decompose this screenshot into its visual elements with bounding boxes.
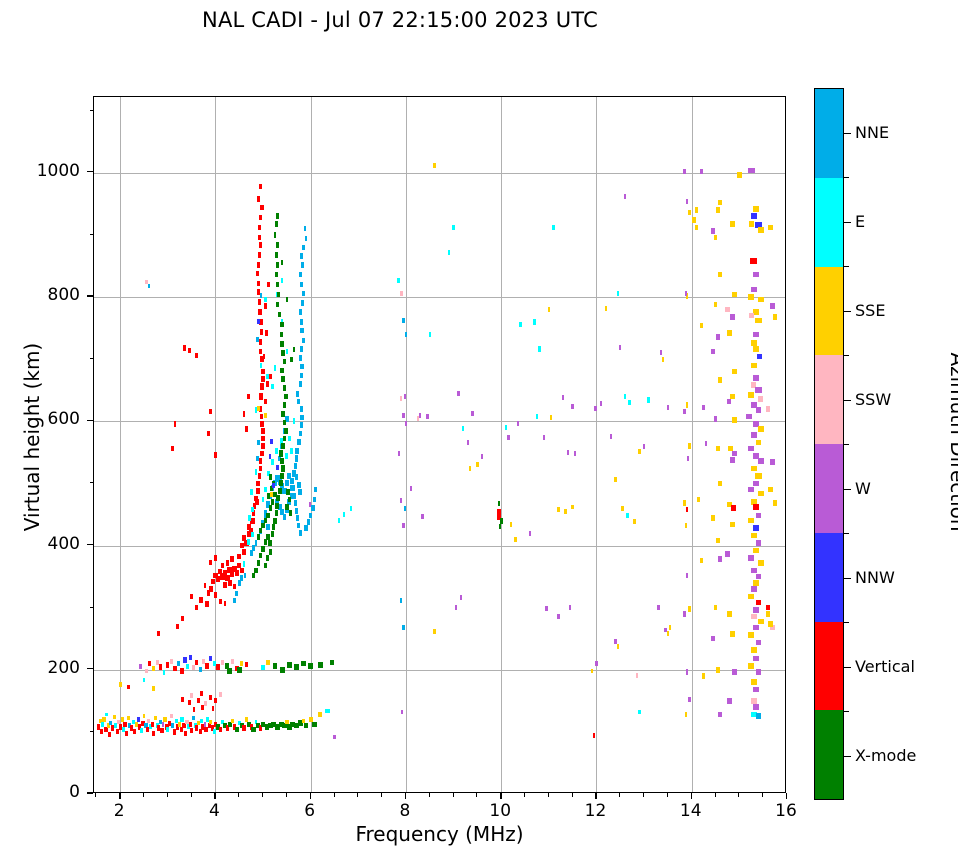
echo-point xyxy=(272,524,276,530)
echo-point xyxy=(256,337,258,342)
echo-point xyxy=(514,537,516,542)
echo-point xyxy=(258,309,262,315)
echo-point xyxy=(277,292,280,298)
echo-point xyxy=(302,338,305,344)
echo-point xyxy=(686,199,689,205)
echo-point xyxy=(702,673,705,679)
echo-point xyxy=(626,513,628,518)
echo-point xyxy=(171,446,173,451)
echo-point xyxy=(751,698,757,704)
echo-point xyxy=(716,538,720,544)
echo-point xyxy=(170,714,173,718)
echo-point xyxy=(195,605,198,611)
echo-point xyxy=(273,518,277,524)
echo-point xyxy=(189,655,192,661)
echo-point xyxy=(258,299,261,305)
echo-point xyxy=(205,601,208,607)
echo-point xyxy=(281,411,284,417)
echo-point xyxy=(276,282,279,288)
echo-point xyxy=(190,728,193,733)
x-tick-minor xyxy=(453,793,454,797)
colorbar-tick xyxy=(844,667,851,668)
x-tick-minor xyxy=(738,793,739,797)
echo-point xyxy=(766,406,771,412)
echo-point xyxy=(192,716,195,720)
echo-point xyxy=(755,387,761,393)
echo-point xyxy=(753,206,760,212)
echo-point xyxy=(697,497,700,503)
echo-point xyxy=(197,698,200,703)
x-tick-minor xyxy=(262,793,263,797)
echo-point xyxy=(297,439,301,445)
echo-point xyxy=(773,500,778,506)
echo-point xyxy=(242,725,245,731)
echo-point xyxy=(402,413,405,418)
y-tick xyxy=(87,295,93,296)
echo-point xyxy=(300,415,303,421)
echo-point xyxy=(266,555,269,561)
echo-point xyxy=(683,409,686,415)
echo-point xyxy=(732,451,737,457)
x-tick-minor xyxy=(572,793,573,797)
echo-point xyxy=(725,551,729,557)
echo-point xyxy=(195,353,198,359)
echo-point xyxy=(288,436,291,442)
echo-point xyxy=(255,469,258,475)
echo-point xyxy=(213,729,216,734)
echo-point xyxy=(574,451,576,456)
echo-point xyxy=(209,695,212,700)
echo-point xyxy=(251,507,254,513)
echo-point xyxy=(591,669,593,674)
echo-point xyxy=(276,302,279,308)
echo-point xyxy=(295,508,298,514)
echo-point xyxy=(755,473,761,479)
colorbar-boundary-tick xyxy=(844,355,849,356)
echo-point xyxy=(148,284,150,288)
echo-point xyxy=(276,495,280,501)
gridline-vertical xyxy=(692,97,693,792)
x-tick-minor xyxy=(334,793,335,797)
echo-point xyxy=(256,481,260,487)
echo-point xyxy=(753,607,759,613)
y-tick-label: 0 xyxy=(0,782,80,802)
x-tick-minor xyxy=(238,793,239,797)
echo-point xyxy=(758,396,763,402)
x-tick-minor xyxy=(619,793,620,797)
echo-point xyxy=(281,465,285,471)
echo-point xyxy=(160,728,163,733)
echo-point xyxy=(695,207,698,213)
echo-point xyxy=(216,664,220,670)
echo-point xyxy=(619,345,621,350)
x-tick-minor xyxy=(286,793,287,797)
colorbar-label-sse: SSE xyxy=(855,301,885,320)
echo-point xyxy=(751,432,757,438)
echo-point xyxy=(686,573,689,579)
echo-point xyxy=(731,505,736,511)
echo-point xyxy=(163,717,166,721)
echo-point xyxy=(280,322,283,328)
echo-point xyxy=(204,701,207,706)
echo-point xyxy=(688,210,691,216)
echo-point xyxy=(261,369,264,375)
echo-point xyxy=(330,660,334,666)
echo-point xyxy=(683,611,686,617)
echo-point xyxy=(402,523,404,528)
echo-point xyxy=(753,332,759,338)
echo-point xyxy=(260,363,262,368)
echo-point xyxy=(756,574,762,580)
echo-point xyxy=(300,253,303,259)
echo-point xyxy=(751,586,757,592)
echo-point xyxy=(505,425,507,430)
echo-point xyxy=(507,435,509,440)
colorbar-segment-x-mode[interactable] xyxy=(815,710,843,799)
echo-point xyxy=(705,441,708,447)
echo-point xyxy=(452,225,454,230)
echo-point xyxy=(751,533,757,539)
echo-point xyxy=(281,443,284,449)
echo-point xyxy=(284,428,287,434)
echo-point xyxy=(214,698,217,703)
echo-point xyxy=(143,714,146,718)
echo-point xyxy=(221,563,224,569)
echo-point xyxy=(166,662,169,668)
echo-point xyxy=(753,481,759,487)
y-tick-label: 200 xyxy=(0,658,80,678)
y-tick-minor xyxy=(90,110,94,111)
echo-point xyxy=(259,215,262,221)
echo-point xyxy=(300,422,303,428)
echo-point xyxy=(257,560,260,566)
echo-point xyxy=(260,451,263,457)
echo-point xyxy=(510,522,512,527)
azimuth-colorbar[interactable] xyxy=(814,88,844,800)
echo-point xyxy=(716,334,720,340)
echo-point xyxy=(290,448,293,454)
echo-point xyxy=(295,474,299,480)
echo-point xyxy=(292,493,296,499)
echo-point xyxy=(271,531,275,537)
echo-point xyxy=(214,555,217,561)
colorbar-segment-vertical[interactable] xyxy=(815,622,843,711)
echo-point xyxy=(751,287,757,293)
echo-point xyxy=(200,719,203,723)
echo-point xyxy=(758,426,764,432)
echo-point xyxy=(714,605,718,611)
colorbar-segment-sse[interactable] xyxy=(815,267,843,356)
echo-point xyxy=(221,660,224,665)
echo-point xyxy=(550,415,552,420)
echo-point xyxy=(100,729,103,734)
echo-point xyxy=(647,397,650,403)
gridline-vertical xyxy=(311,97,312,792)
echo-point xyxy=(773,314,778,320)
echo-point xyxy=(271,459,274,465)
x-tick-label: 6 xyxy=(280,801,340,821)
echo-point xyxy=(188,700,191,705)
echo-point xyxy=(410,486,412,491)
echo-point xyxy=(268,540,272,546)
echo-point xyxy=(145,669,148,674)
echo-point xyxy=(404,506,406,511)
echo-point xyxy=(266,381,269,387)
x-tick-minor xyxy=(95,793,96,797)
echo-point xyxy=(258,235,261,241)
echo-point xyxy=(753,272,760,278)
echo-point xyxy=(275,510,279,516)
echo-point xyxy=(498,501,500,506)
echo-point xyxy=(235,727,239,733)
echo-point xyxy=(748,392,754,398)
echo-point xyxy=(457,391,459,396)
echo-point xyxy=(301,661,306,667)
echo-point xyxy=(711,228,715,234)
echo-point xyxy=(257,406,259,411)
echo-point xyxy=(429,332,431,337)
echo-point xyxy=(289,510,292,516)
echo-point xyxy=(400,396,402,401)
echo-point xyxy=(188,348,191,354)
echo-point xyxy=(758,458,764,464)
colorbar-tick xyxy=(844,400,851,401)
echo-point xyxy=(259,393,263,399)
echo-point xyxy=(517,421,519,426)
echo-point xyxy=(260,329,263,335)
echo-point xyxy=(628,400,631,406)
echo-point xyxy=(402,625,404,630)
echo-point xyxy=(481,454,483,459)
echo-point xyxy=(190,594,193,599)
echo-point xyxy=(296,391,299,397)
gridline-vertical xyxy=(596,97,597,792)
echo-point xyxy=(293,418,296,424)
echo-point xyxy=(195,660,198,666)
echo-point xyxy=(749,221,754,227)
echo-point xyxy=(298,489,302,495)
echo-point xyxy=(275,272,278,278)
echo-point xyxy=(309,513,312,519)
colorbar-segment-w[interactable] xyxy=(815,444,843,533)
echo-point xyxy=(593,733,595,738)
echo-point xyxy=(569,605,571,610)
echo-point xyxy=(256,456,259,462)
echo-point xyxy=(755,318,761,324)
echo-point xyxy=(700,169,703,175)
echo-point xyxy=(170,659,173,664)
echo-point xyxy=(224,601,227,606)
echo-point xyxy=(732,292,737,298)
echo-point xyxy=(250,489,253,495)
echo-point xyxy=(499,524,501,529)
echo-point xyxy=(718,200,722,206)
x-tick-minor xyxy=(429,793,430,797)
echo-point xyxy=(259,339,262,345)
colorbar-segment-nnw[interactable] xyxy=(815,533,843,622)
echo-point xyxy=(209,720,212,724)
echo-point xyxy=(404,394,406,399)
echo-point xyxy=(643,444,645,449)
echo-point xyxy=(748,487,754,493)
echo-point xyxy=(299,272,302,278)
echo-point xyxy=(718,377,722,383)
echo-point xyxy=(261,376,264,382)
echo-point xyxy=(421,514,423,519)
echo-point xyxy=(567,450,569,455)
echo-point xyxy=(283,402,286,408)
echo-point xyxy=(258,473,261,479)
echo-point xyxy=(433,629,435,634)
echo-point xyxy=(766,605,771,611)
y-tick-minor xyxy=(90,607,94,608)
echo-point xyxy=(125,731,128,736)
echo-point xyxy=(152,666,155,671)
echo-point xyxy=(190,693,193,698)
echo-point xyxy=(251,727,255,733)
echo-point xyxy=(756,540,762,546)
colorbar-segment-e[interactable] xyxy=(815,178,843,267)
echo-point xyxy=(304,723,309,729)
echo-point xyxy=(152,731,155,736)
echo-point xyxy=(299,431,302,437)
echo-point xyxy=(714,235,718,241)
x-tick-minor xyxy=(524,793,525,797)
echo-point xyxy=(757,354,763,360)
echo-point xyxy=(286,349,288,354)
colorbar-segment-ssw[interactable] xyxy=(815,355,843,444)
echo-point xyxy=(295,448,299,454)
echo-point xyxy=(333,735,337,739)
echo-point xyxy=(304,226,307,232)
echo-point xyxy=(264,399,267,405)
colorbar-tick xyxy=(844,578,851,579)
colorbar-label-vertical: Vertical xyxy=(855,657,915,676)
echo-point xyxy=(730,221,735,227)
colorbar-boundary-tick xyxy=(844,266,849,267)
echo-point xyxy=(469,466,471,471)
echo-point xyxy=(756,669,762,675)
echo-point xyxy=(123,722,126,728)
echo-point xyxy=(692,217,695,223)
echo-point xyxy=(343,512,345,517)
echo-point xyxy=(211,579,215,585)
echo-point xyxy=(276,213,279,219)
colorbar-tick xyxy=(844,756,851,757)
y-tick-minor xyxy=(90,234,94,235)
echo-point xyxy=(255,499,259,505)
gridline-horizontal xyxy=(94,297,785,298)
echo-point xyxy=(219,599,222,605)
echo-point xyxy=(727,330,732,336)
echo-point xyxy=(261,436,264,442)
echo-point xyxy=(279,480,283,486)
echo-point xyxy=(258,225,261,231)
echo-point xyxy=(139,664,142,669)
echo-point xyxy=(108,732,111,737)
echo-point xyxy=(552,225,554,230)
echo-point xyxy=(500,518,503,524)
ionogram-plot-area xyxy=(93,96,786,793)
echo-point xyxy=(119,682,122,686)
echo-point xyxy=(400,498,402,503)
echo-point xyxy=(264,563,267,569)
x-tick-label: 10 xyxy=(470,801,530,821)
echo-point xyxy=(176,624,179,629)
echo-point xyxy=(238,580,241,586)
echo-point xyxy=(286,297,288,302)
echo-point xyxy=(300,328,303,334)
echo-point xyxy=(688,606,691,612)
echo-point xyxy=(768,621,773,627)
echo-point xyxy=(285,480,289,486)
echo-point xyxy=(768,225,773,231)
echo-point xyxy=(405,421,408,426)
echo-point xyxy=(462,426,464,431)
echo-point xyxy=(296,515,299,521)
echo-point xyxy=(400,598,402,603)
echo-point xyxy=(751,614,757,620)
echo-point xyxy=(730,631,735,637)
colorbar-tick xyxy=(844,311,851,312)
colorbar-tick xyxy=(844,133,851,134)
echo-point xyxy=(151,722,154,728)
echo-point xyxy=(278,488,282,494)
echo-point xyxy=(297,399,300,405)
gridline-horizontal xyxy=(94,670,785,671)
echo-point xyxy=(219,692,222,697)
echo-point xyxy=(257,319,259,324)
echo-point xyxy=(101,722,104,726)
echo-point xyxy=(571,404,573,409)
echo-point xyxy=(756,713,762,719)
echo-point xyxy=(476,462,478,467)
echo-point xyxy=(295,455,299,461)
echo-point xyxy=(350,506,352,511)
echo-point xyxy=(171,723,174,728)
echo-point xyxy=(545,606,547,611)
echo-point xyxy=(259,528,262,534)
colorbar-segment-nne[interactable] xyxy=(815,89,843,178)
echo-point xyxy=(595,661,597,666)
echo-point xyxy=(233,598,236,603)
echo-point xyxy=(257,534,260,540)
echo-point xyxy=(758,297,764,303)
echo-point xyxy=(727,399,731,405)
echo-point xyxy=(281,350,284,356)
echo-point xyxy=(283,385,286,391)
echo-point xyxy=(753,656,759,662)
echo-point xyxy=(688,697,691,703)
echo-point xyxy=(283,436,286,442)
echo-point xyxy=(571,505,573,510)
x-tick-minor xyxy=(381,793,382,797)
echo-point xyxy=(711,515,715,521)
echo-point xyxy=(264,303,267,309)
echo-point xyxy=(270,439,272,444)
echo-point xyxy=(460,595,462,600)
x-tick xyxy=(786,793,787,799)
echo-point xyxy=(247,539,250,545)
echo-point xyxy=(200,691,203,696)
echo-point xyxy=(293,347,295,352)
echo-point xyxy=(283,514,287,520)
echo-point xyxy=(278,312,281,318)
echo-point xyxy=(305,236,308,242)
echo-point xyxy=(180,668,183,674)
echo-point xyxy=(686,402,689,408)
gridline-horizontal xyxy=(94,173,785,174)
